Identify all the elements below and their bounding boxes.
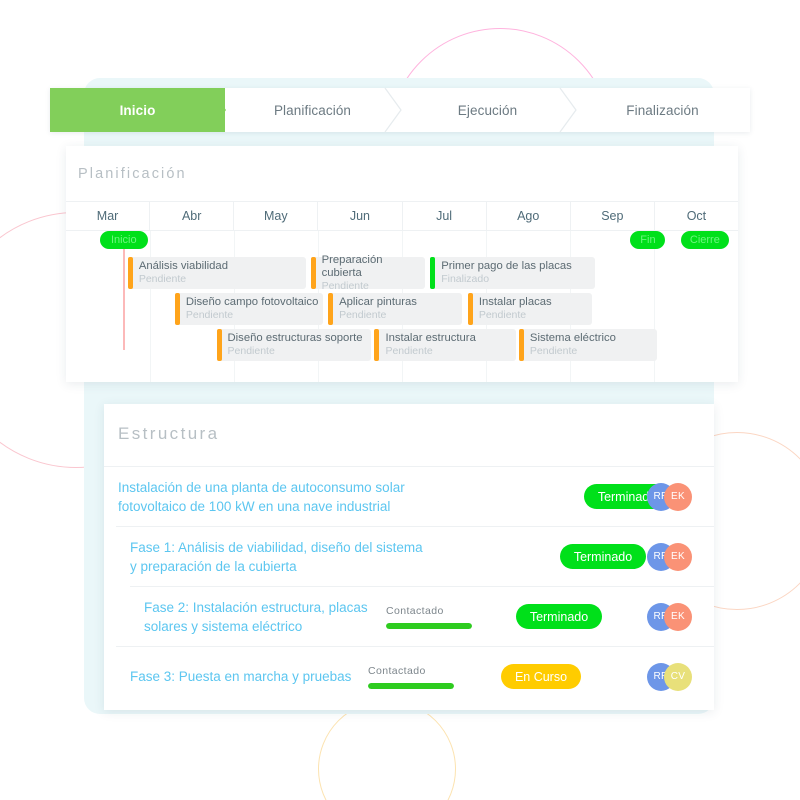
structure-card: Estructura Instalación de una planta de … [104,404,714,710]
gantt-task-state: Pendiente [479,309,592,322]
gantt-task-status-flag-icon [374,329,379,361]
structure-row[interactable]: Fase 1: Análisis de viabilidad, diseño d… [116,526,714,586]
decorative-circle-yellow-bottom [318,700,456,800]
gantt-task-name: Instalar placas [479,296,592,309]
gantt-milestone-label: Cierre [690,234,720,246]
gantt-task-bar[interactable]: Diseño campo fotovoltaicoPendiente [175,293,323,325]
gantt-task-state: Pendiente [530,345,657,358]
gantt-task-bar[interactable]: Diseño estructuras soportePendiente [217,329,372,361]
gantt-track: InicioFinCierreAnálisis viabilidadPendie… [66,231,738,382]
gantt-task-status-flag-icon [128,257,133,289]
structure-row[interactable]: Instalación de una planta de autoconsumo… [104,466,714,526]
gantt-milestone-cierre[interactable]: Cierre [681,231,729,249]
gantt-month-jun: Jun [317,202,401,230]
gantt-task-status-flag-icon [430,257,435,289]
structure-row-avatars: RREK [647,603,692,631]
gantt-task-status-flag-icon [519,329,524,361]
step-tab-finalizacin[interactable]: Finalización [575,88,750,132]
gantt-milestone-inicio[interactable]: Inicio [100,231,148,249]
structure-row-title[interactable]: Fase 2: Instalación estructura, placas s… [144,598,386,636]
gantt-milestone-label: Inicio [111,234,137,246]
gantt-month-may: May [233,202,317,230]
step-tab-label: Inicio [120,103,156,118]
structure-row-title[interactable]: Instalación de una planta de autoconsumo… [118,478,454,516]
gantt-task-bar[interactable]: Sistema eléctricoPendiente [519,329,657,361]
step-tab-label: Ejecución [458,103,517,118]
gantt-month-jul: Jul [402,202,486,230]
gantt-task-state: Pendiente [186,309,323,322]
gantt-milestone-label: Fin [640,234,655,246]
gantt-task-bar[interactable]: Instalar placasPendiente [468,293,592,325]
planning-card-title: Planificación [78,166,187,182]
avatar[interactable]: CV [664,663,692,691]
structure-row-progress: Contactado [368,665,466,689]
gantt-task-state: Pendiente [385,345,515,358]
step-tab-label: Finalización [626,103,698,118]
gantt-task-status-flag-icon [175,293,180,325]
gantt-month-header: MarAbrMayJunJulAgoSepOct [66,201,738,231]
avatar[interactable]: EK [664,543,692,571]
structure-row-progress-fill [368,683,454,689]
gantt-task-name: Aplicar pinturas [339,296,462,309]
gantt-task-bar[interactable]: Instalar estructuraPendiente [374,329,515,361]
structure-row-progress-label: Contactado [368,665,426,677]
gantt-milestone-fin[interactable]: Fin [630,231,665,249]
gantt-task-bar[interactable]: Preparación cubiertaPendiente [311,257,425,289]
gantt-month-ago: Ago [486,202,570,230]
gantt-task-name: Instalar estructura [385,332,515,345]
gantt-task-state: Pendiente [322,280,425,293]
gantt-month-sep: Sep [570,202,654,230]
gantt-task-state: Finalizado [441,273,595,286]
avatar[interactable]: EK [664,603,692,631]
gantt-month-abr: Abr [149,202,233,230]
step-nav: InicioPlanificaciónEjecuciónFinalización [50,88,750,132]
structure-row-progress: Contactado [386,605,484,629]
step-tab-planificacin[interactable]: Planificación [225,88,400,132]
gantt-task-state: Pendiente [339,309,462,322]
structure-row-progress-label: Contactado [386,605,444,617]
gantt-task-name: Preparación cubierta [322,254,425,280]
structure-row-progress-bar [386,623,472,629]
gantt-task-status-flag-icon [311,257,316,289]
gantt-task-status-flag-icon [217,329,222,361]
structure-row-title[interactable]: Fase 1: Análisis de viabilidad, diseño d… [130,538,430,576]
structure-row-avatars: RREK [647,543,692,571]
structure-row-avatars: RRCV [647,663,692,691]
structure-row[interactable]: Fase 3: Puesta en marcha y pruebasContac… [116,646,714,706]
gantt-gridline [150,231,151,382]
step-tab-ejecucin[interactable]: Ejecución [400,88,575,132]
gantt-task-bar[interactable]: Análisis viabilidadPendiente [128,257,306,289]
gantt-task-name: Primer pago de las placas [441,260,595,273]
gantt-month-mar: Mar [66,202,149,230]
gantt-task-name: Diseño estructuras soporte [228,332,372,345]
structure-row-status-cell: En Curso [466,664,616,689]
status-badge[interactable]: En Curso [501,664,581,689]
structure-row-avatars: RREK [647,483,692,511]
status-badge[interactable]: Terminado [560,544,646,569]
gantt-task-status-flag-icon [468,293,473,325]
gantt-task-name: Análisis viabilidad [139,260,306,273]
avatar[interactable]: EK [664,483,692,511]
gantt-task-bar[interactable]: Aplicar pinturasPendiente [328,293,462,325]
step-chevron-icon [385,88,401,132]
structure-row-progress-bar [368,683,454,689]
gantt-task-name: Diseño campo fotovoltaico [186,296,323,309]
page-root: InicioPlanificaciónEjecuciónFinalización… [0,0,800,800]
structure-row-status-cell: Terminado [484,604,634,629]
structure-row-title[interactable]: Fase 3: Puesta en marcha y pruebas [130,667,368,686]
step-tab-label: Planificación [274,103,351,118]
status-badge[interactable]: Terminado [516,604,602,629]
step-chevron-icon [210,88,226,132]
gantt-task-state: Pendiente [228,345,372,358]
gantt-task-bar[interactable]: Primer pago de las placasFinalizado [430,257,595,289]
step-tab-inicio[interactable]: Inicio [50,88,225,132]
structure-row[interactable]: Fase 2: Instalación estructura, placas s… [130,586,714,646]
gantt-task-status-flag-icon [328,293,333,325]
structure-row-list: Instalación de una planta de autoconsumo… [104,466,714,706]
structure-row-progress-fill [386,623,472,629]
structure-card-title: Estructura [118,424,219,444]
gantt-task-name: Sistema eléctrico [530,332,657,345]
planning-card: Planificación MarAbrMayJunJulAgoSepOct I… [66,146,738,382]
gantt-month-oct: Oct [654,202,738,230]
step-chevron-icon [560,88,576,132]
gantt-task-state: Pendiente [139,273,306,286]
